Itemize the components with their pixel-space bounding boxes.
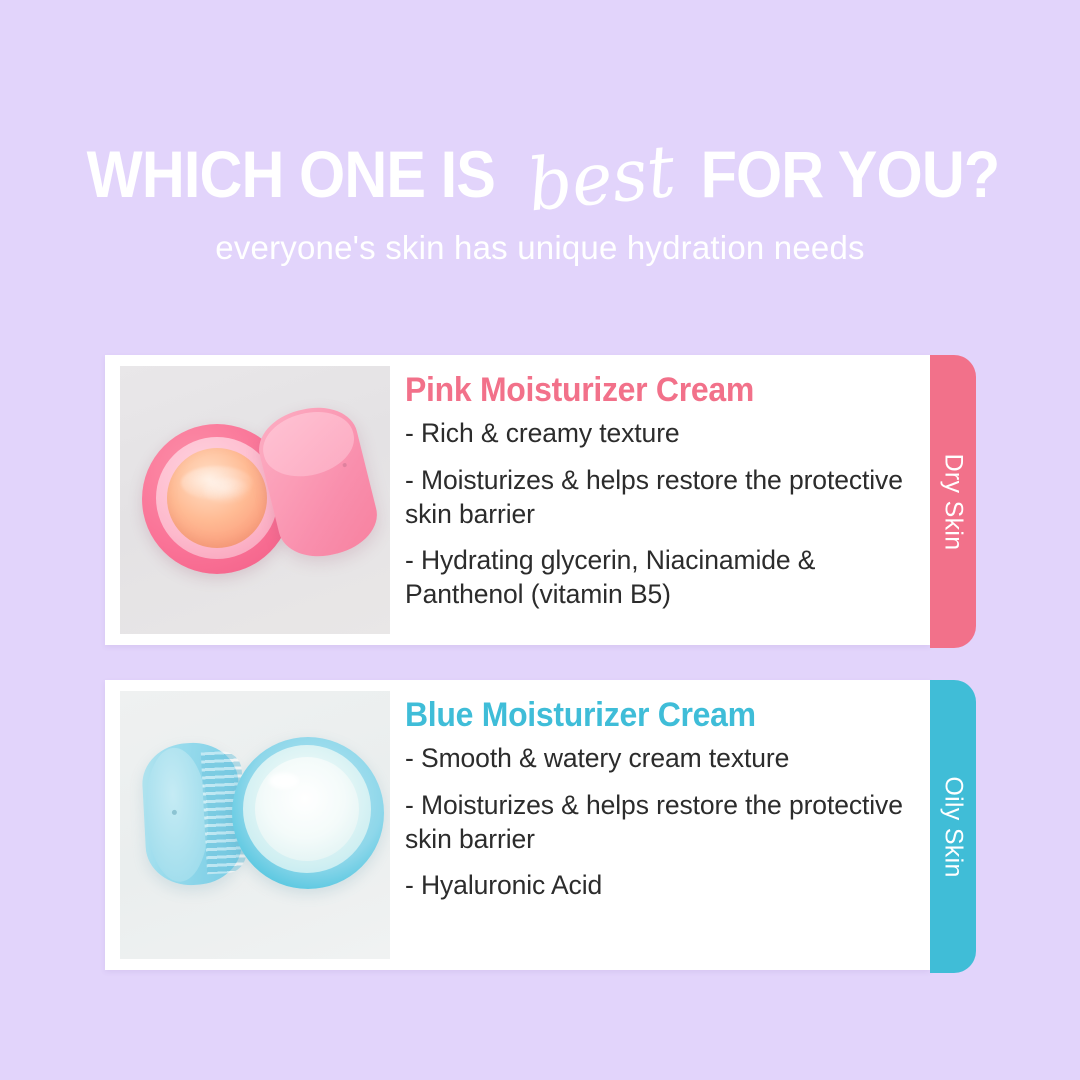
header-section: WHICH ONE IS best FOR YOU? everyone's sk… — [0, 0, 1080, 300]
product-image-blue — [120, 691, 390, 959]
product-bullet: - Hyaluronic Acid — [405, 869, 910, 903]
page-headline: WHICH ONE IS best FOR YOU? — [0, 134, 1080, 214]
skin-type-tab-label: Dry Skin — [939, 453, 968, 550]
product-bullet: - Rich & creamy texture — [405, 417, 910, 451]
product-title-blue: Blue Moisturizer Cream — [405, 698, 880, 734]
product-title-pink: Pink Moisturizer Cream — [405, 373, 880, 409]
skin-type-tab-dry[interactable]: Dry Skin — [930, 355, 976, 648]
product-bullet: - Moisturizes & helps restore the protec… — [405, 464, 910, 532]
headline-script-word: best — [518, 134, 683, 222]
page-subtitle: everyone's skin has unique hydration nee… — [0, 230, 1080, 266]
product-card-blue[interactable]: Blue Moisturizer Cream - Smooth & watery… — [105, 680, 930, 970]
product-card-pink[interactable]: Pink Moisturizer Cream - Rich & creamy t… — [105, 355, 930, 645]
product-details-pink: Pink Moisturizer Cream - Rich & creamy t… — [405, 373, 910, 612]
skin-type-tab-label: Oily Skin — [939, 776, 968, 877]
product-bullet: - Moisturizes & helps restore the protec… — [405, 789, 910, 857]
headline-part-2: FOR YOU? — [701, 141, 1000, 207]
headline-part-1: WHICH ONE IS — [87, 141, 495, 207]
blue-jar-base-icon — [232, 737, 384, 889]
product-image-pink — [120, 366, 390, 634]
blue-jar-lid-icon — [140, 741, 243, 888]
product-bullet: - Smooth & watery cream texture — [405, 742, 910, 776]
skin-type-tab-oily[interactable]: Oily Skin — [930, 680, 976, 973]
product-details-blue: Blue Moisturizer Cream - Smooth & watery… — [405, 698, 910, 903]
product-bullet: - Hydrating glycerin, Niacinamide & Pant… — [405, 544, 910, 612]
